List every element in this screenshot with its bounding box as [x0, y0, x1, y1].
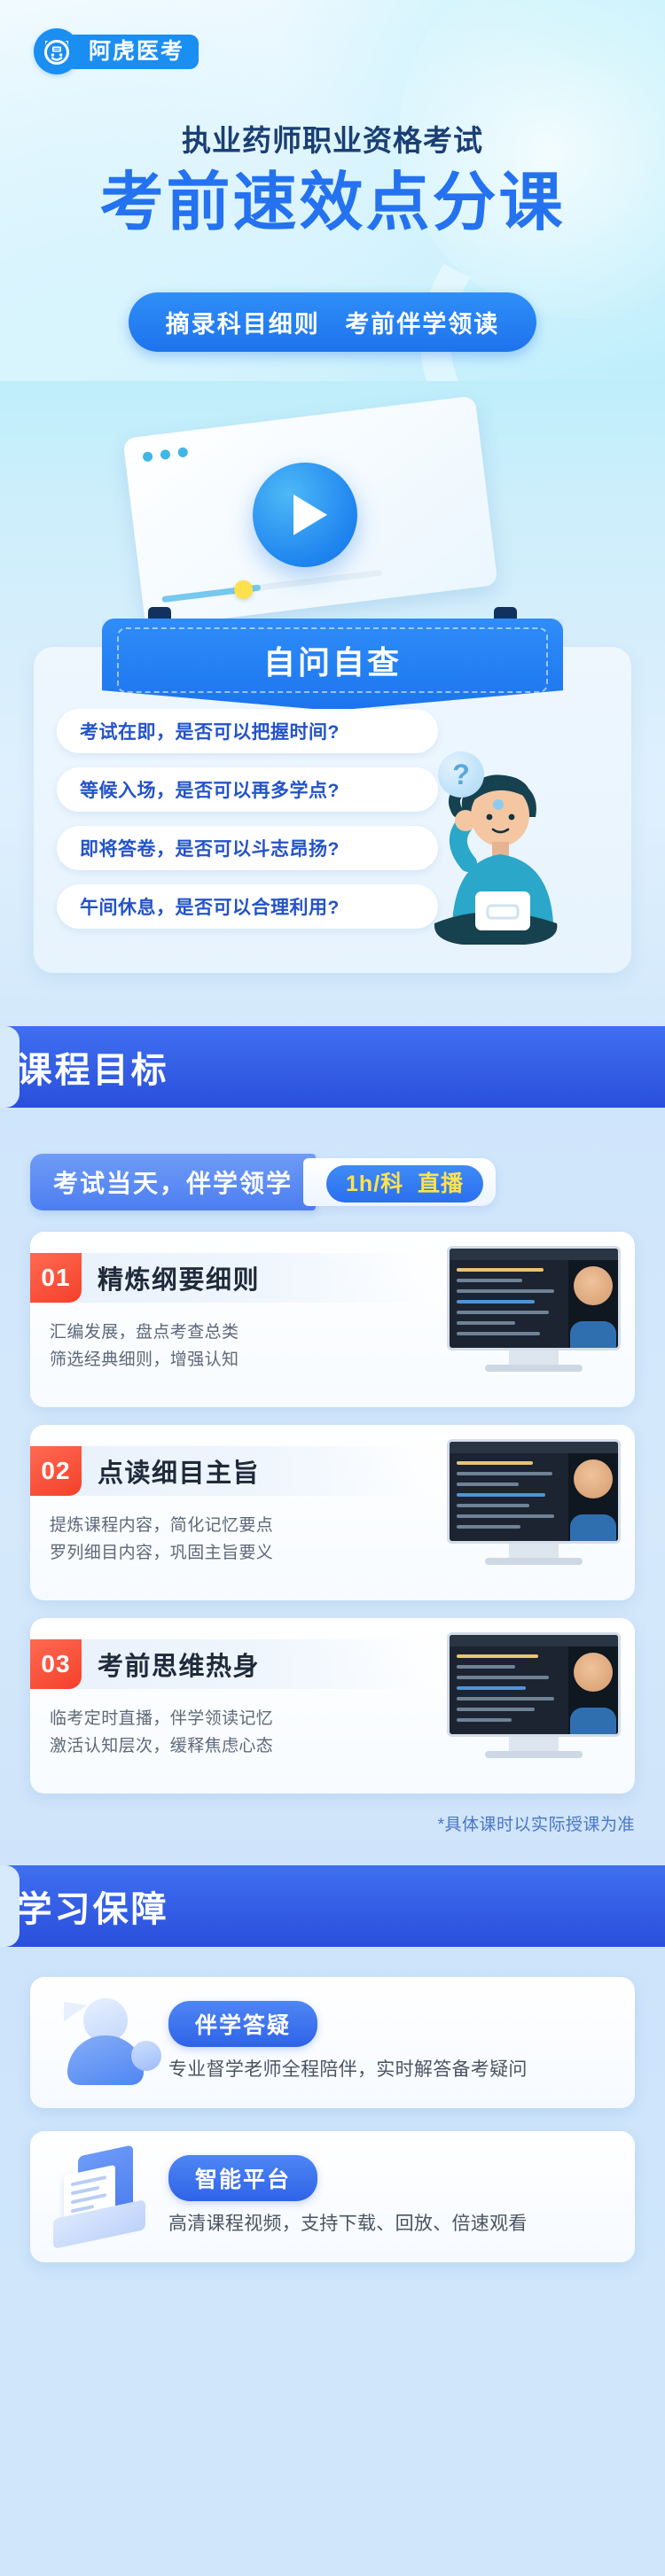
- monitor-screen: [447, 1439, 621, 1544]
- slider-knob-icon: [233, 580, 254, 600]
- course-card-line: 罗列细目内容，巩固主旨要义: [50, 1539, 433, 1567]
- brand-name: 阿虎医考: [66, 35, 199, 69]
- section-paren-icon: ): [0, 1884, 10, 1928]
- monitor-icon: [447, 1246, 621, 1372]
- course-card-content: 01 精炼纲要细则 汇编发展，盘点考查总类 筛选经典细则，增强认知: [30, 1232, 433, 1407]
- video-illustration: [0, 381, 665, 647]
- course-screenshot-icon: [433, 1425, 635, 1600]
- goals-banner-title: 考试当天，伴学领学: [30, 1154, 316, 1210]
- course-screenshot-icon: [433, 1232, 635, 1407]
- course-card-header: 01 精炼纲要细则: [30, 1253, 424, 1303]
- page-title: 学习保障: [17, 1880, 169, 1932]
- self-check-ribbon: 自问自查: [102, 619, 563, 711]
- course-card-line: 汇编发展，盘点考查总类: [50, 1319, 433, 1346]
- course-card-content: 03 考前思维热身 临考定时直播，伴学领读记忆 激活认知层次，缓释焦虑心态: [30, 1618, 433, 1794]
- course-card-line: 临考定时直播，伴学领读记忆: [50, 1705, 433, 1732]
- hero-subtitle: 执业药师职业资格考试: [0, 117, 665, 160]
- question-dot-icon: [493, 799, 504, 810]
- status-badge: 1h/科 直播: [326, 1165, 483, 1202]
- course-card-line: 筛选经典细则，增强认知: [50, 1346, 433, 1374]
- hero-title: 考前速效点分课: [0, 168, 665, 238]
- question-mark-bubble-icon: ?: [438, 751, 484, 798]
- window-dots-icon: [142, 447, 188, 462]
- list-item[interactable]: 03 考前思维热身 临考定时直播，伴学领读记忆 激活认知层次，缓释焦虑心态: [30, 1618, 635, 1794]
- list-item: 等候入场，是否可以再多学点?: [57, 767, 438, 812]
- monitor-icon: [447, 1439, 621, 1565]
- course-card-body: 提炼课程内容，简化记忆要点 罗列细目内容，巩固主旨要义: [30, 1496, 433, 1568]
- goals-banner-badge-wrap: 1h/科 直播: [303, 1158, 496, 1206]
- course-card-title: 精炼纲要细则: [82, 1253, 260, 1303]
- brand-logo[interactable]: 阿虎医考: [34, 28, 199, 74]
- list-item[interactable]: 02 点读细目主旨 提炼课程内容，简化记忆要点 罗列细目内容，巩固主旨要义: [30, 1425, 635, 1600]
- guarantee-desc: 专业督学老师全程陪伴，实时解答备考疑问: [168, 2056, 612, 2084]
- smart-platform-icon: [46, 2147, 163, 2246]
- monitor-icon: [447, 1632, 621, 1758]
- progress-slider-icon: [161, 570, 382, 603]
- section-header-guarantee: ) 学习保障: [0, 1865, 665, 1947]
- play-button-icon[interactable]: [253, 463, 357, 567]
- guarantee-text: 智能平台 高清课程视频，支持下载、回放、倍速观看: [163, 2155, 612, 2238]
- goals-footnote: *具体课时以实际授课为准: [30, 1811, 635, 1835]
- self-check-section: 自问自查 考试在即，是否可以把握时间? 等候入场，是否可以再多学点? 即将答卷，…: [0, 647, 665, 1026]
- hero-banner: 阿虎医考 执业药师职业资格考试 考前速效点分课 摘录科目细则 考前伴学领读: [0, 0, 665, 381]
- goals-section: 考试当天，伴学领学 1h/科 直播 01 精炼纲要细则 汇编发展，盘点考查总类 …: [0, 1108, 665, 1865]
- course-card-line: 提炼课程内容，简化记忆要点: [50, 1512, 433, 1539]
- page-title: 课程目标: [17, 1041, 169, 1093]
- course-card-number: 02: [30, 1446, 82, 1496]
- course-card-number: 03: [30, 1639, 82, 1689]
- self-check-question-list: 考试在即，是否可以把握时间? 等候入场，是否可以再多学点? 即将答卷，是否可以斗…: [57, 709, 438, 929]
- course-card-number: 01: [30, 1253, 82, 1303]
- course-screenshot-icon: [433, 1618, 635, 1794]
- hero-tagline-pill: 摘录科目细则 考前伴学领读: [129, 292, 537, 352]
- list-item: 午间休息，是否可以合理利用?: [57, 884, 438, 929]
- guarantee-text: 伴学答疑 专业督学老师全程陪伴，实时解答备考疑问: [163, 2001, 612, 2084]
- goals-banner: 考试当天，伴学领学 1h/科 直播: [30, 1154, 635, 1210]
- list-item[interactable]: 智能平台 高清课程视频，支持下载、回放、倍速观看: [30, 2131, 635, 2262]
- list-item[interactable]: 伴学答疑 专业督学老师全程陪伴，实时解答备考疑问: [30, 1977, 635, 2108]
- list-item: 即将答卷，是否可以斗志昂扬?: [57, 826, 438, 870]
- tiger-face-icon: [34, 28, 80, 74]
- course-card-header: 03 考前思维热身: [30, 1639, 424, 1689]
- list-item: 考试在即，是否可以把握时间?: [57, 709, 438, 753]
- course-card-body: 汇编发展，盘点考查总类 筛选经典细则，增强认知: [30, 1303, 433, 1374]
- course-card-header: 02 点读细目主旨: [30, 1446, 424, 1496]
- course-card-content: 02 点读细目主旨 提炼课程内容，简化记忆要点 罗列细目内容，巩固主旨要义: [30, 1425, 433, 1600]
- monitor-screen: [447, 1246, 621, 1350]
- status-badge: 智能平台: [168, 2155, 317, 2201]
- self-check-ribbon-title: 自问自查: [117, 627, 548, 693]
- course-card-title: 考前思维热身: [82, 1639, 260, 1689]
- status-badge: 伴学答疑: [168, 2001, 317, 2047]
- self-check-panel: 自问自查 考试在即，是否可以把握时间? 等候入场，是否可以再多学点? 即将答卷，…: [34, 647, 631, 973]
- list-item[interactable]: 01 精炼纲要细则 汇编发展，盘点考查总类 筛选经典细则，增强认知: [30, 1232, 635, 1407]
- guarantee-desc: 高清课程视频，支持下载、回放、倍速观看: [168, 2210, 612, 2238]
- section-paren-icon: ): [0, 1045, 10, 1089]
- teacher-avatar-icon: [46, 1993, 163, 2092]
- course-card-line: 激活认知层次，缓释焦虑心态: [50, 1732, 433, 1760]
- course-card-title: 点读细目主旨: [82, 1446, 260, 1496]
- guarantee-section: 伴学答疑 专业督学老师全程陪伴，实时解答备考疑问 智能平台 高清课程视频，支持下…: [0, 1947, 665, 2312]
- course-card-body: 临考定时直播，伴学领读记忆 激活认知层次，缓释焦虑心态: [30, 1689, 433, 1761]
- monitor-screen: [447, 1632, 621, 1737]
- hero-pill-wrap: 摘录科目细则 考前伴学领读: [0, 292, 665, 352]
- section-header-goals: ) 课程目标: [0, 1026, 665, 1108]
